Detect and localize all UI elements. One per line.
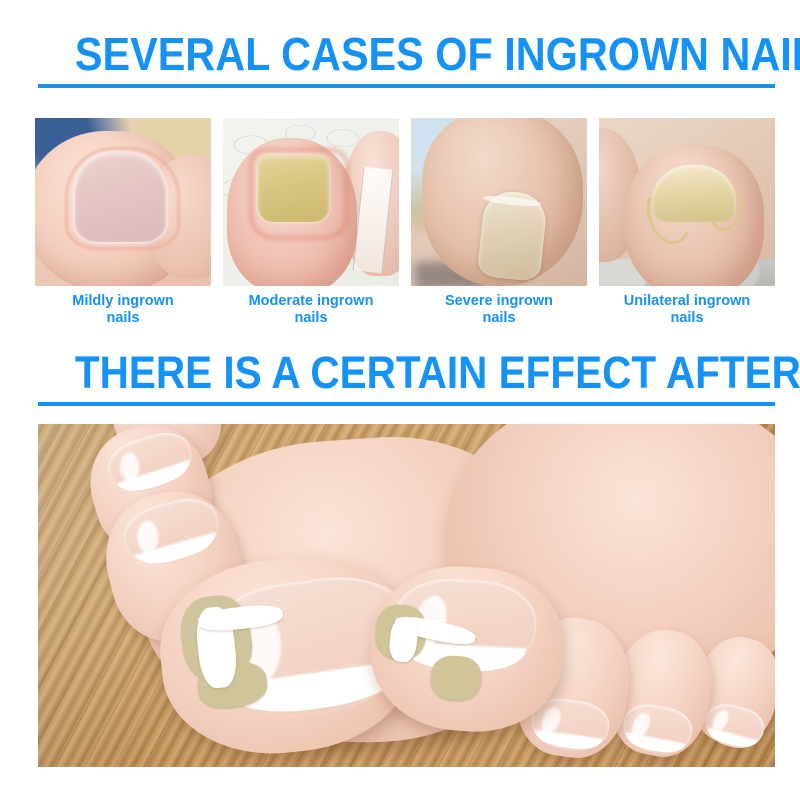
caption-unilateral-ingrown: Unilateral ingrown nails <box>599 293 775 328</box>
treated-feet-with-nail-correction-patch-photo <box>38 424 775 767</box>
right-toenail-2-gloss <box>538 704 564 737</box>
unilateral-ingrown-toenail-photo <box>599 118 775 286</box>
right-toenail-4-gloss <box>710 708 732 734</box>
caption-mild-line1: Mildly ingrown <box>72 293 174 309</box>
mild-ingrown-toenail-photo <box>35 118 211 286</box>
caption-severe-ingrown: Severe ingrown nails <box>411 293 587 328</box>
unilateral-photo-canvas <box>599 118 775 286</box>
caption-unilateral-line1: Unilateral ingrown <box>624 293 751 309</box>
cases-headline-rule <box>38 84 775 88</box>
mild-nail-plate <box>74 152 168 243</box>
effect-headline-block: THERE IS A CERTAIN EFFECT AFTER USE <box>38 350 775 406</box>
right-toe-correction-patch-end <box>430 654 482 701</box>
caption-moderate-line1: Moderate ingrown <box>249 293 374 309</box>
moderate-photo-canvas <box>223 118 399 286</box>
caption-severe-line1: Severe ingrown <box>445 293 553 309</box>
caption-severe-line2: nails <box>482 310 515 326</box>
moderate-nail-plate <box>258 155 328 222</box>
effect-headline-text: THERE IS A CERTAIN EFFECT AFTER USE <box>75 350 738 395</box>
caption-mild-line2: nails <box>106 310 139 326</box>
cases-headline-block: SEVERAL CASES OF INGROWN NAILS <box>38 31 775 88</box>
left-toenail-3-gloss <box>119 452 140 482</box>
caption-moderate-ingrown: Moderate ingrown nails <box>223 293 399 328</box>
caption-moderate-line2: nails <box>294 310 327 326</box>
severe-ingrown-toenail-photo <box>411 118 587 286</box>
case-caption-row: Mildly ingrown nails Moderate ingrown na… <box>35 293 775 328</box>
caption-unilateral-line2: nails <box>670 310 703 326</box>
cases-headline-text: SEVERAL CASES OF INGROWN NAILS <box>75 31 738 77</box>
right-foot <box>362 479 775 767</box>
left-toenail-2-gloss <box>137 520 159 554</box>
severe-photo-canvas <box>411 118 587 286</box>
effect-headline-rule <box>38 402 775 406</box>
case-photo-row <box>35 118 775 286</box>
mild-photo-canvas <box>35 118 211 286</box>
caption-mild-ingrown: Mildly ingrown nails <box>35 293 211 328</box>
right-toenail-3-gloss <box>628 709 653 739</box>
moderate-ingrown-toenail-photo <box>223 118 399 286</box>
infographic-page: SEVERAL CASES OF INGROWN NAILS <box>0 0 800 800</box>
